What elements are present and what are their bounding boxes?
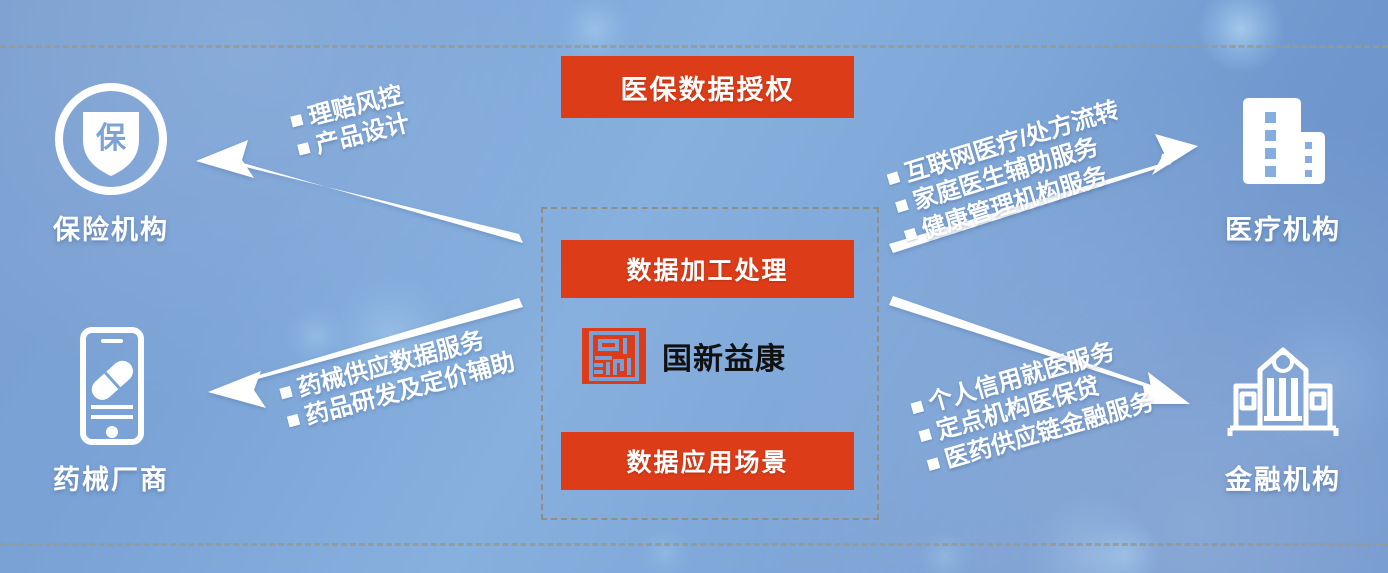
node-medical[interactable]: 医疗机构 [1178, 72, 1388, 247]
guoxin-yikang-logo-icon [582, 328, 646, 384]
hospital-building-icon [1178, 72, 1388, 200]
bank-building-icon [1178, 322, 1388, 450]
bokeh-light [640, 528, 690, 573]
node-label: 金融机构 [1178, 458, 1388, 497]
data-application-scenario-box[interactable]: 数据应用场景 [561, 432, 854, 490]
brand-name: 国新益康 [662, 334, 786, 378]
node-insurance[interactable]: 保 保险机构 [6, 72, 216, 247]
bullet-icon [895, 199, 909, 213]
flow-caption-insurance: 理赔风控 产品设计 [288, 80, 413, 164]
node-label: 医疗机构 [1178, 208, 1388, 247]
bokeh-light [918, 530, 972, 573]
bokeh-light [1090, 520, 1160, 573]
data-authorization-box[interactable]: 医保数据授权 [561, 56, 854, 118]
node-pharma[interactable]: 药械厂商 [6, 322, 216, 497]
data-processing-box[interactable]: 数据加工处理 [561, 240, 854, 298]
top-dashed-rule [0, 45, 1388, 48]
brand-lockup: 国新益康 [582, 328, 786, 384]
node-finance[interactable]: 金融机构 [1178, 322, 1388, 497]
arrow-to-insurance [196, 140, 523, 243]
bullet-icon [927, 457, 941, 471]
flow-caption-medical: 互联网医疗/处方流转 家庭医生辅助服务 健康管理机构服务 [884, 96, 1140, 250]
flow-caption-pharma: 药械供应数据服务 药品研发及定价辅助 [277, 319, 518, 436]
bullet-icon [279, 386, 292, 399]
bullet-icon [290, 114, 303, 127]
diagram-canvas: 医保数据授权 数据加工处理 数据应用场景 [0, 0, 1388, 573]
svg-text:保: 保 [96, 122, 127, 155]
bullet-icon [919, 429, 933, 443]
bokeh-light [560, 0, 630, 64]
bottom-dashed-rule [0, 543, 1388, 546]
node-label: 保险机构 [6, 208, 216, 247]
flow-caption-finance: 个人信用就医服务 定点机构医保贷 医药供应链金融服务 [908, 331, 1157, 480]
node-label: 药械厂商 [6, 458, 216, 497]
mobile-pill-icon [6, 322, 216, 450]
bokeh-light [286, 306, 346, 366]
bullet-icon [904, 227, 918, 241]
bullet-icon [887, 172, 901, 186]
bullet-icon [911, 401, 925, 415]
bokeh-light [1198, 0, 1284, 72]
bullet-icon [297, 143, 310, 156]
bokeh-light [1026, 492, 1156, 573]
bullet-icon [287, 414, 300, 427]
shield-insurance-icon: 保 [6, 72, 216, 200]
